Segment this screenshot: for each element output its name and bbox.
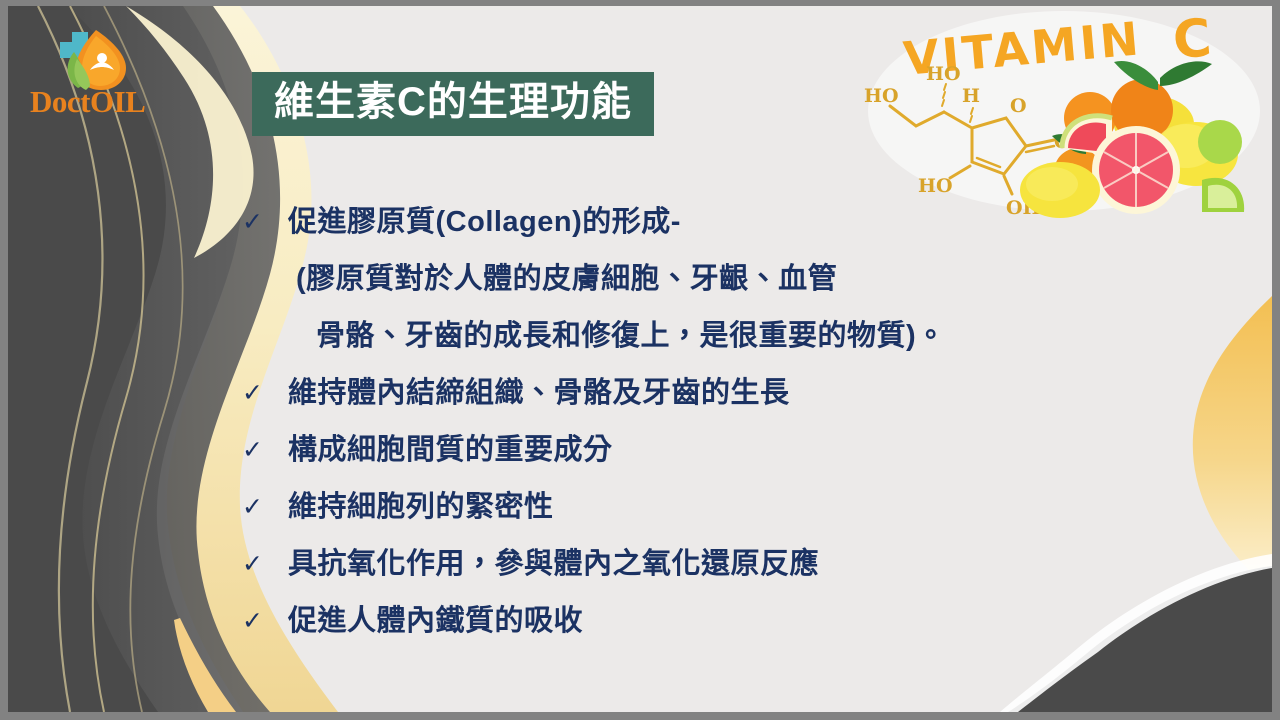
list-item: ✓ 構成細胞間質的重要成分 bbox=[236, 430, 1096, 487]
slide-frame: DoctOIL 維生素C的生理功能 VITAMIN C bbox=[0, 0, 1280, 720]
list-item-continuation: (膠原質對於人體的皮膚細胞、牙齦、血管 bbox=[236, 259, 1096, 316]
svg-text:HO: HO bbox=[864, 85, 899, 107]
list-item-continuation: 骨骼、牙齒的成長和修復上，是很重要的物質)。 bbox=[236, 316, 1096, 373]
list-item-label: 骨骼、牙齒的成長和修復上，是很重要的物質)。 bbox=[288, 316, 946, 356]
list-item-label: 構成細胞間質的重要成分 bbox=[288, 430, 613, 470]
brand-logo: DoctOIL bbox=[30, 28, 180, 128]
slide-canvas: DoctOIL 維生素C的生理功能 VITAMIN C bbox=[8, 6, 1272, 712]
vitamin-c-illustration: VITAMIN C bbox=[864, 6, 1264, 221]
list-item-label: 維持細胞列的緊密性 bbox=[288, 487, 554, 527]
check-icon: ✓ bbox=[236, 430, 288, 470]
bullet-list: ✓ 促進膠原質(Collagen)的形成- (膠原質對於人體的皮膚細胞、牙齦、血… bbox=[236, 202, 1096, 658]
svg-text:H: H bbox=[962, 85, 980, 107]
brand-wordmark: DoctOIL bbox=[30, 86, 180, 117]
doctoil-flame-cross-icon bbox=[44, 28, 130, 92]
list-item-label: 具抗氧化作用，參與體內之氧化還原反應 bbox=[288, 544, 819, 584]
list-item-label: 維持體內結締組織、骨骼及牙齒的生長 bbox=[288, 373, 790, 413]
svg-text:O: O bbox=[1010, 95, 1027, 117]
list-item: ✓ 維持細胞列的緊密性 bbox=[236, 487, 1096, 544]
list-item-label: 促進膠原質(Collagen)的形成- bbox=[288, 202, 681, 242]
check-icon: ✓ bbox=[236, 373, 288, 413]
svg-text:HO: HO bbox=[918, 175, 953, 197]
list-item: ✓ 促進人體內鐵質的吸收 bbox=[236, 601, 1096, 658]
list-item: ✓ 具抗氧化作用，參與體內之氧化還原反應 bbox=[236, 544, 1096, 601]
check-icon: ✓ bbox=[236, 202, 288, 242]
list-item-label: (膠原質對於人體的皮膚細胞、牙齦、血管 bbox=[288, 259, 837, 299]
list-item-label: 促進人體內鐵質的吸收 bbox=[288, 601, 583, 641]
check-icon: ✓ bbox=[236, 544, 288, 584]
list-item: ✓ 促進膠原質(Collagen)的形成- bbox=[236, 202, 1096, 259]
slide-title-box: 維生素C的生理功能 bbox=[252, 72, 654, 136]
page-title: 維生素C的生理功能 bbox=[274, 80, 632, 125]
svg-text:HO: HO bbox=[926, 63, 961, 85]
check-icon: ✓ bbox=[236, 487, 288, 527]
list-item: ✓ 維持體內結締組織、骨骼及牙齒的生長 bbox=[236, 373, 1096, 430]
check-icon: ✓ bbox=[236, 601, 288, 641]
